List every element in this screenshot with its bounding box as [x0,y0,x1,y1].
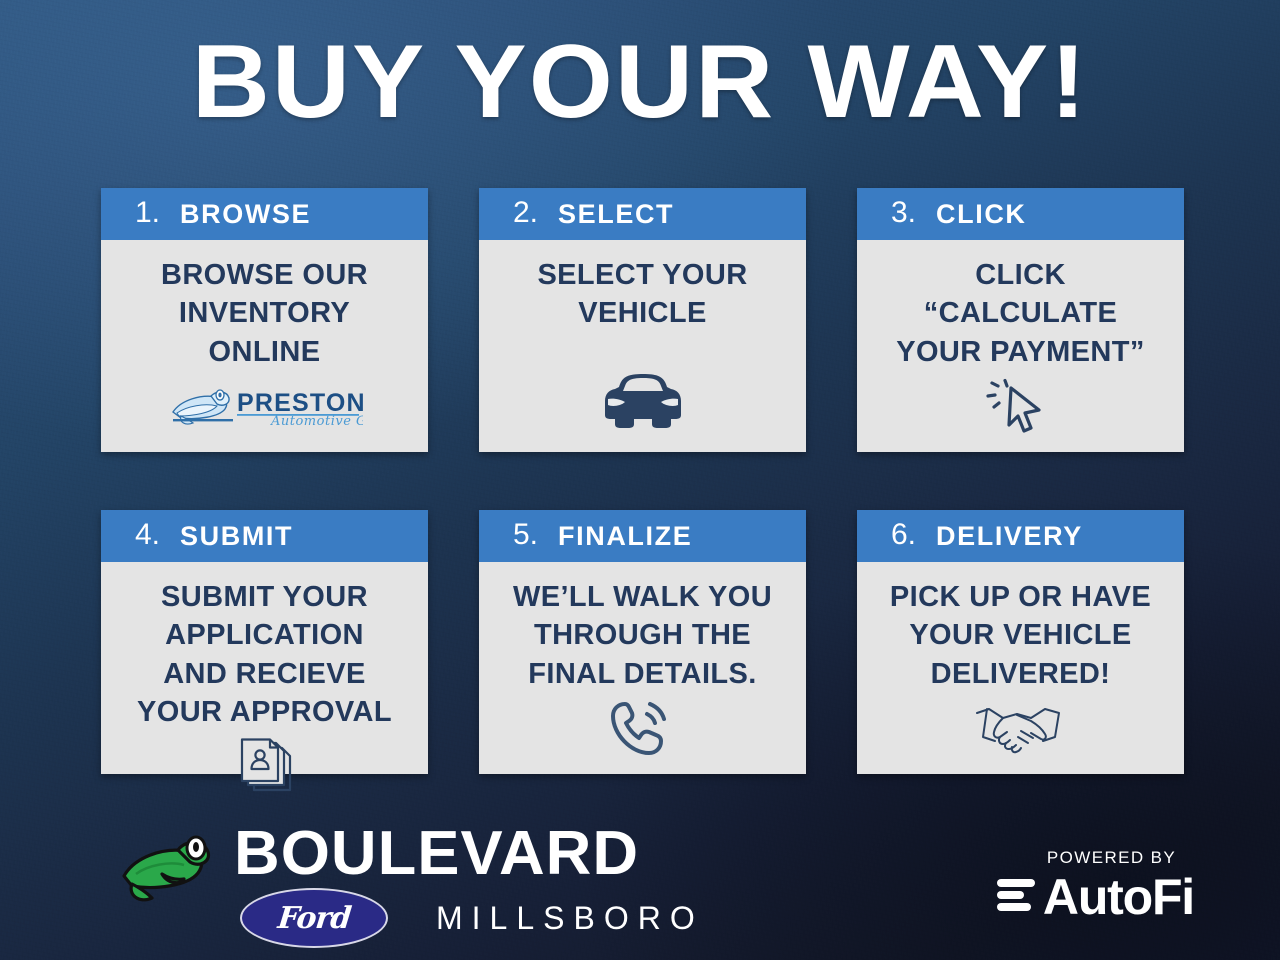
dealer-name: BOULEVARD [234,822,713,886]
step-card-header: 1. BROWSE [101,188,428,240]
autofi-logo[interactable]: POWERED BY AutoFi [995,848,1194,922]
page-title: BUY YOUR WAY! [0,26,1280,138]
ford-wordmark: Ford [276,901,352,936]
step-title: SELECT [558,201,674,228]
step-number: 3. [891,198,916,228]
car-icon [601,364,685,436]
step-card-submit[interactable]: 4. SUBMIT SUBMIT YOUR APPLICATION AND RE… [101,510,428,774]
step-number: 1. [135,198,160,228]
autofi-wordmark: AutoFi [1043,872,1194,922]
step-card-body: SUBMIT YOUR APPLICATION AND RECIEVE YOUR… [101,562,428,819]
step-card-body: SELECT YOUR VEHICLE [479,240,806,452]
step-number: 2. [513,198,538,228]
step-card-delivery[interactable]: 6. DELIVERY PICK UP OR HAVE YOUR VEHICLE… [857,510,1184,774]
step-number: 4. [135,520,160,550]
autofi-bars-icon [995,873,1037,922]
step-description: WE’LL WALK YOU THROUGH THE FINAL DETAILS… [513,578,772,693]
step-card-finalize[interactable]: 5. FINALIZE WE’LL WALK YOU THROUGH THE F… [479,510,806,774]
step-description: PICK UP OR HAVE YOUR VEHICLE DELIVERED! [890,578,1151,693]
step-title: CLICK [936,201,1027,228]
step-card-body: PICK UP OR HAVE YOUR VEHICLE DELIVERED! [857,562,1184,781]
step-card-header: 6. DELIVERY [857,510,1184,562]
step-description: BROWSE OUR INVENTORY ONLINE [161,256,368,371]
dealer-city: MILLSBORO [436,900,704,937]
handshake-icon [973,693,1069,765]
step-card-header: 5. FINALIZE [479,510,806,562]
step-card-header: 2. SELECT [479,188,806,240]
step-card-browse[interactable]: 1. BROWSE BROWSE OUR INVENTORY ONLINE [101,188,428,452]
step-title: DELIVERY [936,523,1083,550]
step-card-select[interactable]: 2. SELECT SELECT YOUR VEHICLE [479,188,806,452]
step-description: SELECT YOUR VEHICLE [537,256,747,333]
ford-badge: Ford [240,888,388,948]
preston-logo-icon: PRESTON Automotive Group [167,382,363,430]
svg-text:PRESTON: PRESTON [237,389,363,417]
step-card-header: 4. SUBMIT [101,510,428,562]
step-number: 5. [513,520,538,550]
cursor-click-icon [985,371,1057,443]
step-card-body: BROWSE OUR INVENTORY ONLINE [101,240,428,452]
document-person-icon [234,731,296,803]
step-title: SUBMIT [180,523,293,550]
frog-icon [118,834,222,917]
poster-canvas: BUY YOUR WAY! 1. BROWSE BROWSE OUR INVEN… [0,0,1280,960]
step-card-body: WE’LL WALK YOU THROUGH THE FINAL DETAILS… [479,562,806,781]
footer: BOULEVARD Ford MILLSBORO POWERED BY [0,810,1280,960]
step-card-click[interactable]: 3. CLICK CLICK “CALCULATE YOUR PAYMENT” [857,188,1184,452]
step-description: CLICK “CALCULATE YOUR PAYMENT” [896,256,1145,371]
step-description: SUBMIT YOUR APPLICATION AND RECIEVE YOUR… [137,578,392,731]
step-number: 6. [891,520,916,550]
step-title: FINALIZE [558,523,692,550]
step-card-body: CLICK “CALCULATE YOUR PAYMENT” [857,240,1184,459]
step-card-header: 3. CLICK [857,188,1184,240]
boulevard-ford-logo[interactable]: BOULEVARD Ford MILLSBORO [118,822,704,948]
phone-call-icon [609,693,677,765]
steps-grid: 1. BROWSE BROWSE OUR INVENTORY ONLINE [101,188,1186,774]
step-title: BROWSE [180,201,311,228]
powered-by-label: POWERED BY [1047,848,1194,868]
svg-text:Automotive Group: Automotive Group [270,414,363,429]
